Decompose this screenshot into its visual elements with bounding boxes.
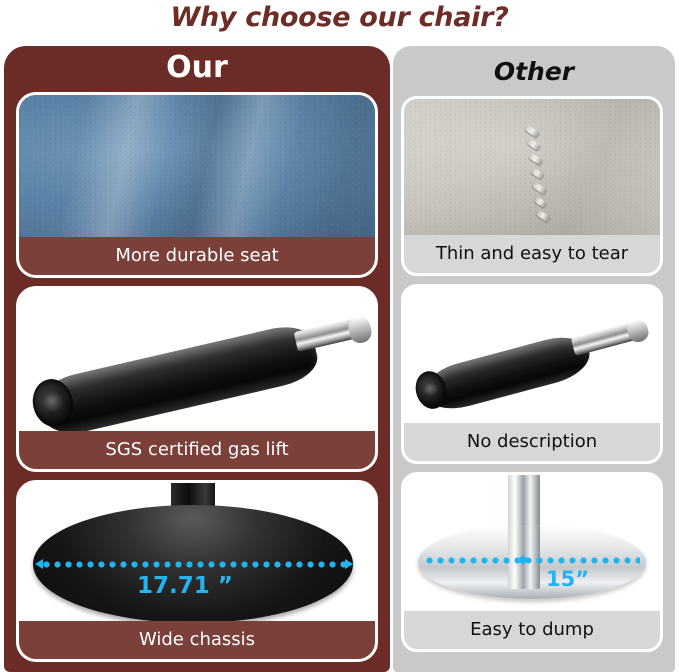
comparison-board: Our More durable seat SGS certified gas … xyxy=(0,46,679,672)
our-card-chassis: 17.71 ” Wide chassis xyxy=(16,480,378,662)
column-our: Our More durable seat SGS certified gas … xyxy=(4,46,390,672)
gas-lift-rod-tip xyxy=(346,315,373,345)
page-title: Why choose our chair? xyxy=(0,2,679,33)
our-seat-photo xyxy=(19,95,375,237)
other-seat-caption: Thin and easy to tear xyxy=(404,235,660,273)
other-seat-photo xyxy=(404,99,660,235)
gas-lift-illustration xyxy=(404,287,660,423)
our-chassis-caption: Wide chassis xyxy=(19,621,375,659)
our-seat-caption: More durable seat xyxy=(19,237,375,275)
other-card-gaslift: No description xyxy=(401,284,663,464)
gas-lift-body xyxy=(36,320,322,431)
base-illustration: 15” xyxy=(404,475,660,611)
chassis-measure-line xyxy=(41,561,347,568)
our-gaslift-caption: SGS certified gas lift xyxy=(19,431,375,469)
our-gaslift-photo xyxy=(19,289,375,431)
chassis-illustration: 17.71 ” xyxy=(19,483,375,621)
our-card-seat: More durable seat xyxy=(16,92,378,278)
our-chassis-photo: 17.71 ” xyxy=(19,483,375,621)
chassis-measure-label: 17.71 ” xyxy=(137,573,233,599)
column-our-header: Our xyxy=(4,46,390,90)
other-card-seat: Thin and easy to tear xyxy=(401,96,663,276)
measure-arrow-right xyxy=(345,559,353,569)
base-measure-label: 15” xyxy=(546,567,589,591)
other-gaslift-photo xyxy=(404,287,660,423)
measure-arrow-right xyxy=(522,555,530,565)
measure-arrow-left xyxy=(35,559,43,569)
other-gaslift-caption: No description xyxy=(404,423,660,461)
column-other: Other Thin and easy to tear xyxy=(393,46,675,672)
gray-leather-texture xyxy=(404,99,660,235)
our-card-gaslift: SGS certified gas lift xyxy=(16,286,378,472)
column-other-header: Other xyxy=(393,46,675,94)
other-base-caption: Easy to dump xyxy=(404,611,660,649)
gas-lift-body xyxy=(419,330,595,417)
gas-lift-illustration xyxy=(19,289,375,431)
base-measure-line xyxy=(424,557,640,564)
other-base-photo: 15” xyxy=(404,475,660,611)
leather-grain-overlay xyxy=(19,95,375,237)
other-card-base: 15” Easy to dump xyxy=(401,472,663,652)
blue-leather-texture xyxy=(19,95,375,237)
